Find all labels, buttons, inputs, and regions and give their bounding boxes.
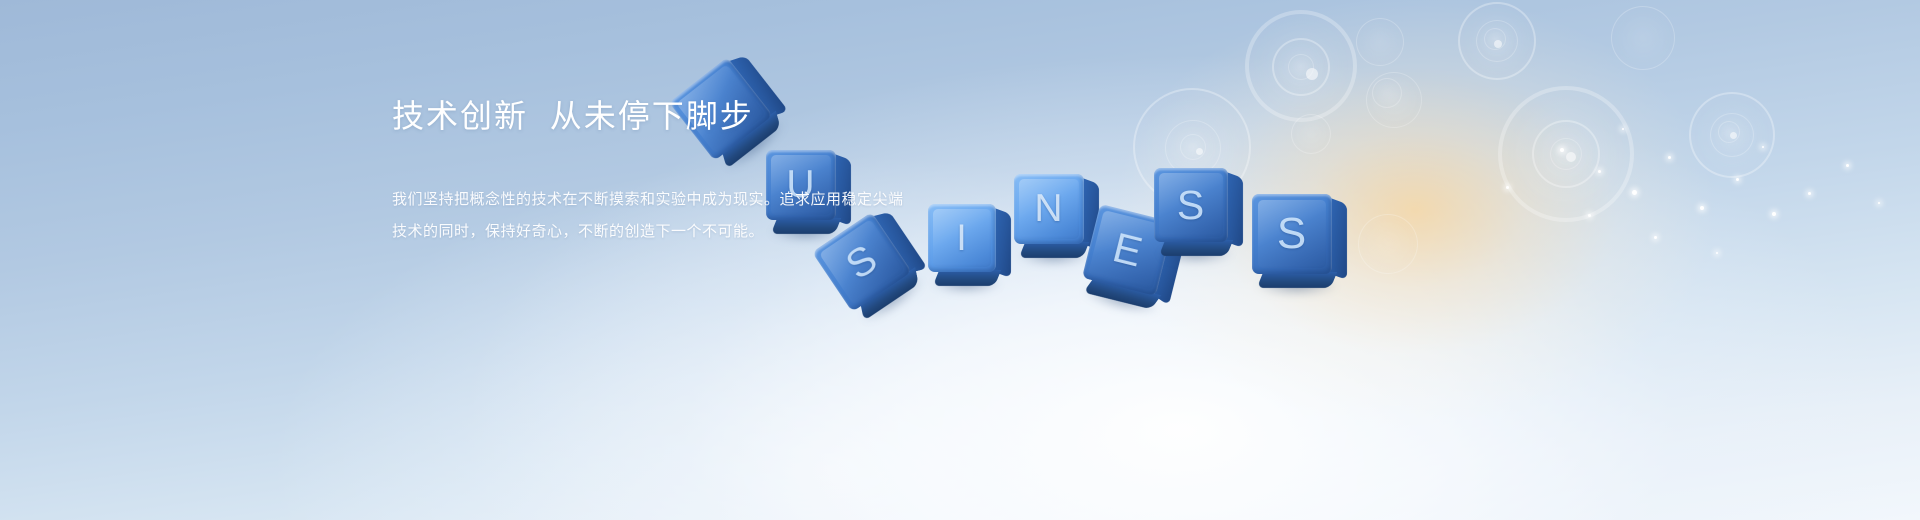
keycap-side-bottom <box>1159 240 1233 256</box>
hero-description-line-2: 技术的同时，保持好奇心，不断的创造下一个不可能。 <box>392 216 952 248</box>
keycap-side-bottom <box>933 270 1001 286</box>
keycap-side-right <box>1330 198 1347 280</box>
page-title: 技术创新 从未停下脚步 <box>392 96 912 136</box>
hero-copy: 技术创新 从未停下脚步 我们坚持把概念性的技术在不断摸索和实验中成为现实。追求应… <box>392 96 912 248</box>
keycap-side-bottom <box>1019 242 1089 258</box>
keycap-letter: N <box>1014 174 1084 244</box>
hero-description-line-1: 我们坚持把概念性的技术在不断摸索和实验中成为现实。追求应用稳定尖端 <box>392 184 952 216</box>
keycap-side-bottom <box>1257 272 1337 288</box>
keycap-group: USINESS <box>0 0 1920 520</box>
keycap-n: N <box>1014 174 1084 244</box>
keycap-letter: S <box>1252 194 1332 274</box>
hero-description: 我们坚持把概念性的技术在不断摸索和实验中成为现实。追求应用稳定尖端 技术的同时，… <box>392 184 952 248</box>
hero-banner: USINESS 技术创新 从未停下脚步 我们坚持把概念性的技术在不断摸索和实验中… <box>0 0 1920 520</box>
keycap-side-right <box>994 208 1011 278</box>
keycap-s2: S <box>1154 168 1228 242</box>
keycap-side-right <box>1226 172 1243 248</box>
keycap-s3: S <box>1252 194 1332 274</box>
keycap-letter: S <box>1154 168 1228 242</box>
